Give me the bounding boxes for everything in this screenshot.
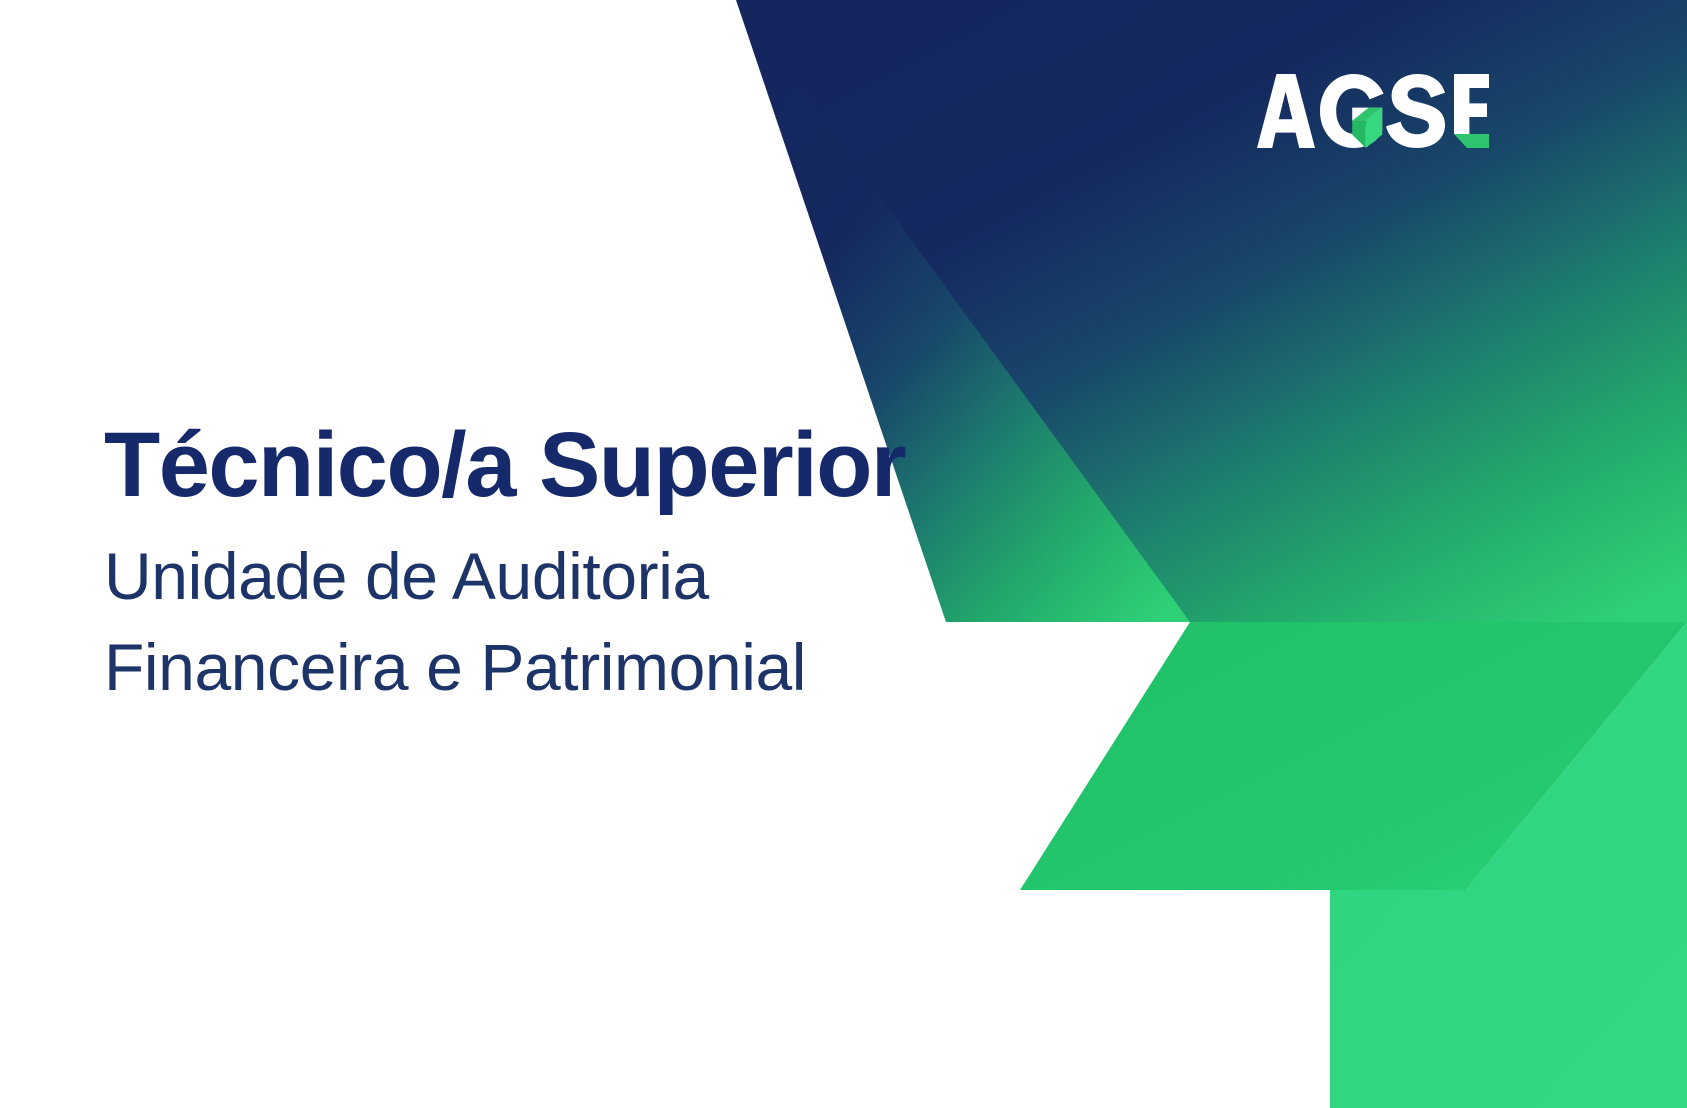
logo-letter-e-green-bar (1454, 134, 1489, 148)
page-title: Técnico/a Superior (104, 418, 1024, 513)
agse-logo[interactable] (1257, 74, 1489, 148)
logo-letter-a (1257, 74, 1315, 148)
agse-wordmark-icon (1257, 74, 1489, 148)
page-subtitle: Unidade de Auditoria Financeira e Patrim… (104, 531, 1024, 713)
subtitle-line-2: Financeira e Patrimonial (104, 622, 1024, 713)
logo-letter-e (1454, 74, 1489, 134)
banner-card: Técnico/a Superior Unidade de Auditoria … (0, 0, 1687, 1108)
headline-block: Técnico/a Superior Unidade de Auditoria … (104, 418, 1024, 713)
logo-letter-s (1386, 74, 1445, 148)
subtitle-line-1: Unidade de Auditoria (104, 531, 1024, 622)
